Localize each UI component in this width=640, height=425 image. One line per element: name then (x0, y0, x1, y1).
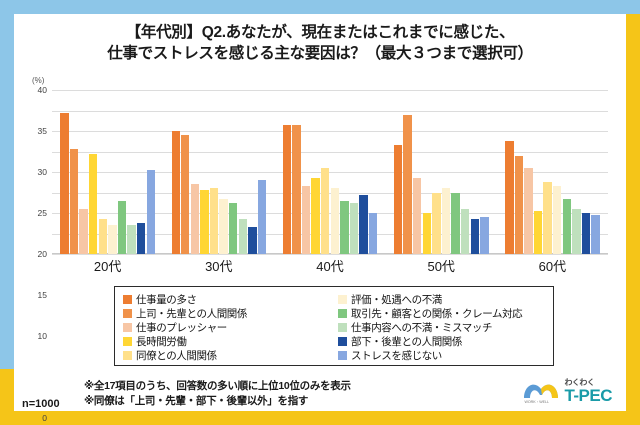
footnotes: ※全17項目のうち、回答数の多い順に上位10位のみを表示 ※同僚は「上司・先輩・… (84, 379, 351, 409)
legend-item[interactable]: ストレスを感じない (338, 348, 547, 362)
bar (229, 203, 237, 254)
decorative-band-right (626, 14, 640, 425)
legend-label: 部下・後輩との人間関係 (351, 334, 462, 349)
y-axis-tick-label: 40 (38, 85, 47, 95)
bar (359, 195, 367, 254)
bar (432, 193, 440, 255)
y-axis-tick-label: 35 (38, 126, 47, 136)
bar (127, 225, 135, 254)
bar (572, 209, 580, 254)
legend-label: 評価・処遇への不満 (351, 292, 442, 307)
legend-item[interactable]: 評価・処遇への不満 (338, 292, 547, 306)
x-axis-tick-label: 40代 (274, 256, 385, 275)
bar (118, 201, 126, 254)
bar (534, 211, 542, 254)
tpec-logo: WORK・WELL わくわく T-PEC (522, 378, 612, 404)
bar (515, 156, 523, 254)
legend-item[interactable]: 取引先・顧客との関係・クレーム対応 (338, 306, 547, 320)
legend-label: 仕事量の多さ (136, 292, 197, 307)
bar (403, 115, 411, 254)
bar (394, 145, 402, 254)
decorative-band-left (0, 0, 14, 372)
x-axis-tick-label: 50代 (386, 256, 497, 275)
bar (582, 213, 590, 254)
legend-item[interactable]: 同僚との人間関係 (123, 348, 332, 362)
y-axis-tick-label: 0 (42, 413, 47, 423)
bar (543, 182, 551, 254)
decorative-band-left-lower (0, 369, 14, 425)
legend-column-left: 仕事量の多さ上司・先輩との人間関係仕事のプレッシャー長時間労働同僚との人間関係 (123, 292, 332, 361)
bar (461, 209, 469, 254)
legend-swatch (338, 351, 347, 360)
bar-group (386, 90, 497, 254)
x-axis-tick-label: 60代 (497, 256, 608, 275)
bar-group (497, 90, 608, 254)
bar (219, 199, 227, 254)
bar (60, 113, 68, 254)
x-axis-tick-label: 20代 (52, 256, 163, 275)
chart-card: 【年代別】Q2.あなたが、現在またはこれまでに感じた、 仕事でストレスを感じる主… (14, 14, 626, 372)
y-axis-unit-label: (%) (32, 76, 44, 85)
bar (524, 168, 532, 254)
slide-root: 【年代別】Q2.あなたが、現在またはこれまでに感じた、 仕事でストレスを感じる主… (0, 0, 640, 425)
legend-swatch (123, 337, 132, 346)
bar (340, 201, 348, 254)
x-axis-labels: 20代30代40代50代60代 (52, 256, 608, 275)
bar (108, 225, 116, 254)
bar-group (274, 90, 385, 254)
legend-swatch (123, 351, 132, 360)
legend-column-right: 評価・処遇への不満取引先・顧客との関係・クレーム対応仕事内容への不満・ミスマッチ… (338, 292, 547, 361)
gridline: 0 (52, 254, 608, 255)
bar (210, 188, 218, 254)
bar (191, 184, 199, 254)
legend-swatch (123, 323, 132, 332)
bar (350, 203, 358, 254)
legend-item[interactable]: 部下・後輩との人間関係 (338, 334, 547, 348)
bar (79, 209, 87, 254)
bar (451, 193, 459, 255)
bar-group (163, 90, 274, 254)
bar (471, 219, 479, 254)
legend-label: 長時間労働 (136, 334, 187, 349)
bar (99, 219, 107, 254)
legend-label: 仕事内容への不満・ミスマッチ (351, 320, 492, 335)
bar (89, 154, 97, 254)
bar (413, 178, 421, 254)
legend-label: 同僚との人間関係 (136, 348, 217, 363)
bar (369, 213, 377, 254)
legend-item[interactable]: 長時間労働 (123, 334, 332, 348)
bar (239, 219, 247, 254)
bar-chart-plot-area: 0510152025303540 (52, 90, 608, 254)
footnote-2: ※同僚は「上司・先輩・部下・後輩以外」を指す (84, 394, 351, 409)
legend-swatch (338, 323, 347, 332)
bar (248, 227, 256, 254)
legend-item[interactable]: 上司・先輩との人間関係 (123, 306, 332, 320)
bar (553, 186, 561, 254)
decorative-band-bottom (0, 411, 640, 425)
page-title-line2: 仕事でストレスを感じる主な要因は？（最大３つまで選択可） (14, 43, 626, 64)
y-axis-tick-label: 10 (38, 331, 47, 341)
legend-swatch (123, 309, 132, 318)
legend-label: ストレスを感じない (351, 348, 442, 363)
bar (200, 190, 208, 254)
bar (258, 180, 266, 254)
y-axis-tick-label: 15 (38, 290, 47, 300)
bar (591, 215, 599, 254)
legend-swatch (338, 295, 347, 304)
legend-swatch (338, 309, 347, 318)
page-title-line1: 【年代別】Q2.あなたが、現在またはこれまでに感じた、 (126, 24, 515, 41)
legend-swatch (338, 337, 347, 346)
bar (505, 141, 513, 254)
bar (181, 135, 189, 254)
x-axis-tick-label: 30代 (163, 256, 274, 275)
bar (563, 199, 571, 254)
y-axis-tick-label: 20 (38, 249, 47, 259)
legend-label: 取引先・顧客との関係・クレーム対応 (351, 306, 522, 321)
bar-groups (52, 90, 608, 254)
bar (147, 170, 155, 254)
bar (480, 217, 488, 254)
heart-wave-logo-icon: WORK・WELL (522, 378, 560, 404)
legend-swatch (123, 295, 132, 304)
logo-text: わくわく T-PEC (564, 379, 612, 404)
page-title: 【年代別】Q2.あなたが、現在またはこれまでに感じた、 仕事でストレスを感じる主… (14, 22, 626, 64)
sample-size-label: n=1000 (22, 398, 60, 410)
decorative-band-top (0, 0, 640, 14)
bar (302, 186, 310, 254)
bar (292, 125, 300, 254)
logo-name: T-PEC (564, 387, 612, 404)
bar (311, 178, 319, 254)
bar (137, 223, 145, 254)
legend-label: 上司・先輩との人間関係 (136, 306, 247, 321)
bar (331, 188, 339, 254)
y-axis-tick-label: 30 (38, 167, 47, 177)
legend-label: 仕事のプレッシャー (136, 320, 227, 335)
bar-group (52, 90, 163, 254)
logo-subtext: WORK・WELL (524, 400, 549, 405)
bar (283, 125, 291, 254)
bar (442, 188, 450, 254)
chart-legend: 仕事量の多さ上司・先輩との人間関係仕事のプレッシャー長時間労働同僚との人間関係 … (114, 286, 554, 366)
legend-item[interactable]: 仕事量の多さ (123, 292, 332, 306)
bar (321, 168, 329, 254)
bar (172, 131, 180, 254)
footnote-1: ※全17項目のうち、回答数の多い順に上位10位のみを表示 (84, 379, 351, 394)
legend-item[interactable]: 仕事内容への不満・ミスマッチ (338, 320, 547, 334)
y-axis-tick-label: 25 (38, 208, 47, 218)
bar (423, 213, 431, 254)
bar (70, 149, 78, 254)
legend-item[interactable]: 仕事のプレッシャー (123, 320, 332, 334)
